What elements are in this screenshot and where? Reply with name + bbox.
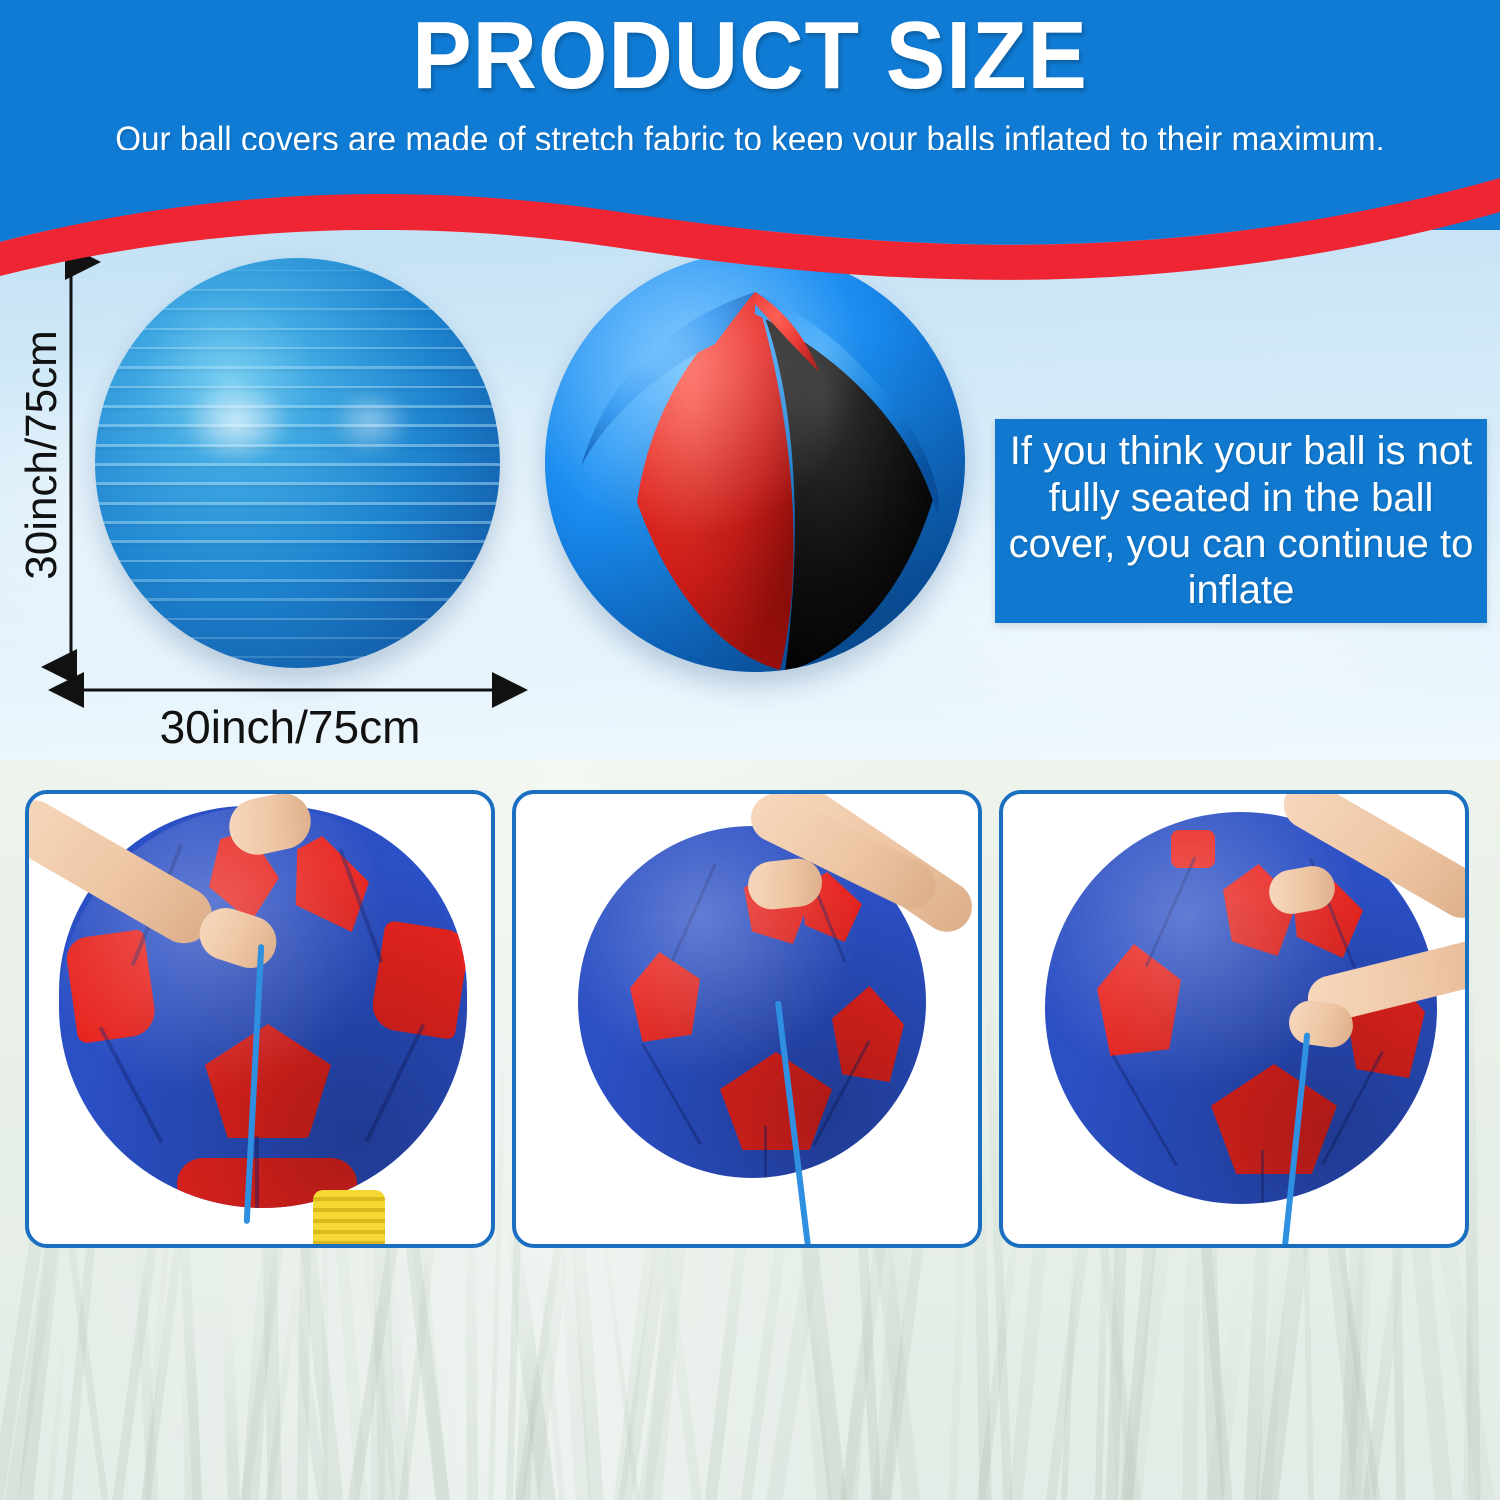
inflate-callout-text: If you think your ball is not fully seat… [995, 428, 1487, 614]
infographic-root: 30inch/75cm 30inch/75cm If you think you… [0, 0, 1500, 1500]
wave-divider [0, 150, 1500, 340]
grass-blade [1121, 1328, 1133, 1500]
step-1-photo-panel [25, 790, 495, 1248]
dimension-width-label: 30inch/75cm [75, 700, 505, 754]
step-photo-panels [0, 790, 1500, 1250]
inflate-callout-box: If you think your ball is not fully seat… [995, 419, 1487, 623]
page-title: PRODUCT SIZE [53, 8, 1448, 104]
step-3-photo-panel [999, 790, 1469, 1248]
step-2-photo-panel [512, 790, 982, 1248]
step-1-foot-pump [313, 1190, 385, 1244]
